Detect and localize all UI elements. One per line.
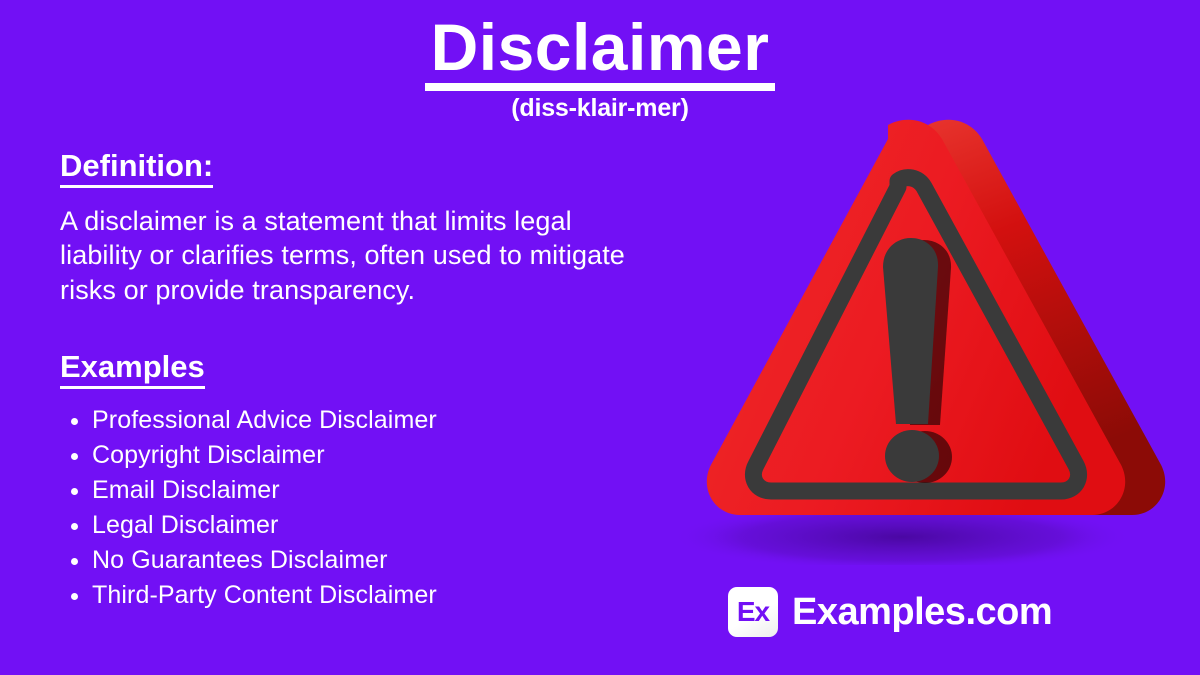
definition-heading: Definition: [60, 148, 213, 184]
list-item: Copyright Disclaimer [60, 438, 640, 473]
list-item-label: Copyright Disclaimer [92, 441, 325, 469]
list-item-label: Legal Disclaimer [92, 511, 278, 539]
list-item-label: Email Disclaimer [92, 476, 280, 504]
brand-name-label: Examples.com [792, 593, 1052, 631]
definition-heading-underline [60, 185, 213, 188]
examples-heading: Examples [60, 349, 205, 385]
list-item: No Guarantees Disclaimer [60, 543, 640, 578]
bullet-icon [71, 453, 78, 460]
list-item-label: Third-Party Content Disclaimer [92, 581, 437, 609]
list-item-label: Professional Advice Disclaimer [92, 406, 437, 434]
examples-section: Examples Professional Advice Disclaimer … [60, 349, 640, 613]
content-column: Definition: A disclaimer is a statement … [60, 148, 640, 613]
definition-heading-group: Definition: [60, 148, 213, 188]
exclamation-mark [883, 238, 939, 482]
disclaimer-infographic-card: Disclaimer (diss-klair-mer) Definition: … [0, 0, 1200, 675]
list-item: Professional Advice Disclaimer [60, 403, 640, 438]
examples-heading-group: Examples [60, 349, 205, 389]
definition-body-text: A disclaimer is a statement that limits … [60, 204, 640, 308]
page-title-group: Disclaimer [425, 14, 776, 91]
page-title: Disclaimer [425, 14, 776, 80]
list-item: Email Disclaimer [60, 473, 640, 508]
bullet-icon [71, 418, 78, 425]
list-item: Third-Party Content Disclaimer [60, 578, 640, 613]
bullet-icon [71, 558, 78, 565]
list-item: Legal Disclaimer [60, 508, 640, 543]
warning-triangle-icon [640, 85, 1180, 565]
bullet-icon [71, 523, 78, 530]
examples-heading-underline [60, 386, 205, 389]
bullet-icon [71, 488, 78, 495]
bullet-icon [71, 593, 78, 600]
brand-badge: Ex [728, 587, 778, 637]
examples-list: Professional Advice Disclaimer Copyright… [60, 403, 640, 613]
list-item-label: No Guarantees Disclaimer [92, 546, 388, 574]
definition-section: Definition: A disclaimer is a statement … [60, 148, 640, 307]
brand-badge-label: Ex [737, 598, 769, 626]
brand-logo[interactable]: Ex Examples.com [728, 587, 1052, 637]
